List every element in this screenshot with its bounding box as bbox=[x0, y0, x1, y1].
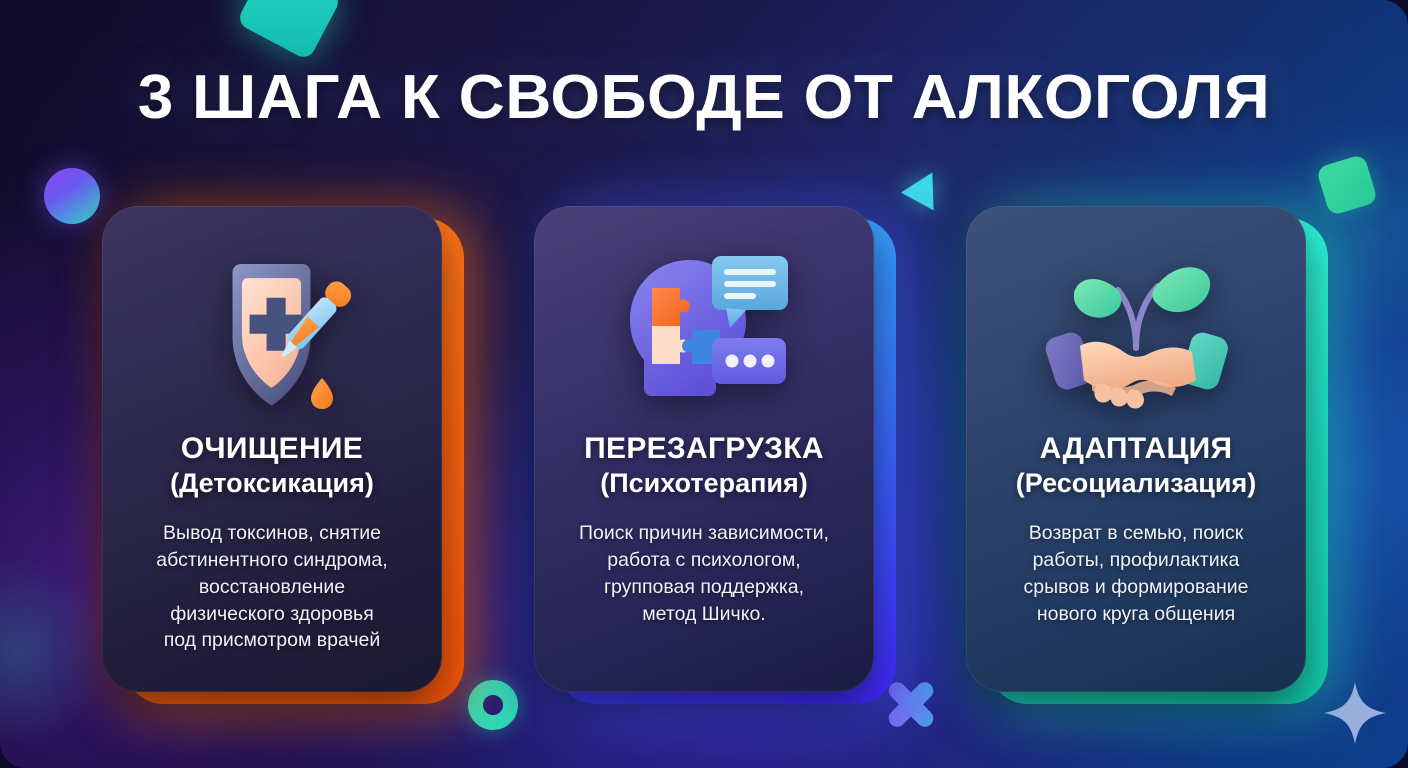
infographic-canvas: 3 ШАГА К СВОБОДЕ ОТ АЛКОГОЛЯ bbox=[0, 0, 1408, 768]
head-puzzle-speech-icon bbox=[604, 238, 804, 416]
card-surface-1: ОЧИЩЕНИЕ (Детоксикация) Вывод токсинов, … bbox=[102, 206, 442, 692]
card-heading-main-1: ОЧИЩЕНИЕ bbox=[170, 432, 374, 466]
card-heading-3: АДАПТАЦИЯ (Ресоциализация) bbox=[1016, 432, 1256, 498]
step-card-reboot[interactable]: ПЕРЕЗАГРУЗКА (Психотерапия) Поиск причин… bbox=[534, 206, 874, 692]
card-body-2: Поиск причин зависимости, работа с психо… bbox=[573, 520, 835, 628]
handshake-sprout-icon bbox=[1036, 238, 1236, 416]
card-heading-sub-1: (Детоксикация) bbox=[170, 468, 374, 498]
page-title: 3 ШАГА К СВОБОДЕ ОТ АЛКОГОЛЯ bbox=[0, 62, 1408, 133]
shield-cross-dropper-icon bbox=[172, 238, 372, 416]
step-card-adaptation[interactable]: АДАПТАЦИЯ (Ресоциализация) Возврат в сем… bbox=[966, 206, 1306, 692]
step-card-cleansing[interactable]: ОЧИЩЕНИЕ (Детоксикация) Вывод токсинов, … bbox=[102, 206, 442, 692]
card-body-3: Возврат в семью, поиск работы, профилакт… bbox=[1018, 520, 1255, 628]
card-body-1: Вывод токсинов, снятие абстинентного син… bbox=[150, 520, 393, 655]
card-surface-2: ПЕРЕЗАГРУЗКА (Психотерапия) Поиск причин… bbox=[534, 206, 874, 692]
card-heading-main-3: АДАПТАЦИЯ bbox=[1016, 432, 1256, 466]
card-heading-1: ОЧИЩЕНИЕ (Детоксикация) bbox=[170, 432, 374, 498]
card-heading-main-2: ПЕРЕЗАГРУЗКА bbox=[584, 432, 824, 466]
card-heading-2: ПЕРЕЗАГРУЗКА (Психотерапия) bbox=[584, 432, 824, 498]
teal-rounded-square-top-icon bbox=[236, 0, 342, 61]
card-surface-3: АДАПТАЦИЯ (Ресоциализация) Возврат в сем… bbox=[966, 206, 1306, 692]
card-heading-sub-3: (Ресоциализация) bbox=[1016, 468, 1256, 498]
steps-card-row: ОЧИЩЕНИЕ (Детоксикация) Вывод токсинов, … bbox=[0, 206, 1408, 692]
card-heading-sub-2: (Психотерапия) bbox=[584, 468, 824, 498]
